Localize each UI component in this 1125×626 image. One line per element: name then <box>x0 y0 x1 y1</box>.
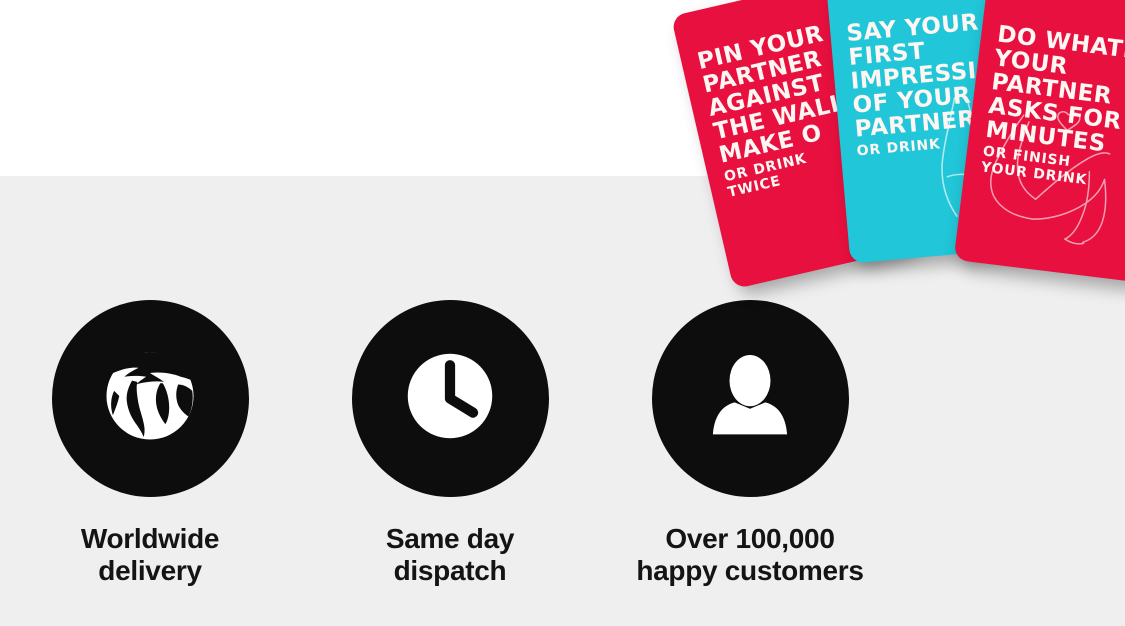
card-main-text: PIN YOUR PARTNER AGAINST THE WALL MAKE O <box>695 21 848 168</box>
badge-label: Worldwide delivery <box>81 523 219 587</box>
badge-worldwide-delivery: Worldwide delivery <box>0 300 300 587</box>
card-text: DO WHATEVER YOUR PARTNER ASKS FOR 5 MINU… <box>977 0 1125 223</box>
badge-label: Same day dispatch <box>386 523 514 587</box>
page-root: Worldwide delivery Same day dispatch <box>0 0 1125 626</box>
card-main-text: DO WHATEVER YOUR PARTNER ASKS FOR 5 MINU… <box>984 21 1125 156</box>
product-card-fan: PIN YOUR PARTNER AGAINST THE WALL MAKE O… <box>690 0 1125 390</box>
badge-same-day-dispatch: Same day dispatch <box>300 300 600 587</box>
badge-label: Over 100,000 happy customers <box>636 523 863 587</box>
badge-icon-circle <box>52 300 249 497</box>
badge-icon-circle <box>352 300 549 497</box>
game-card-3[interactable]: DO WHATEVER YOUR PARTNER ASKS FOR 5 MINU… <box>954 0 1125 282</box>
globe-icon <box>86 332 214 465</box>
clock-icon <box>386 332 514 465</box>
